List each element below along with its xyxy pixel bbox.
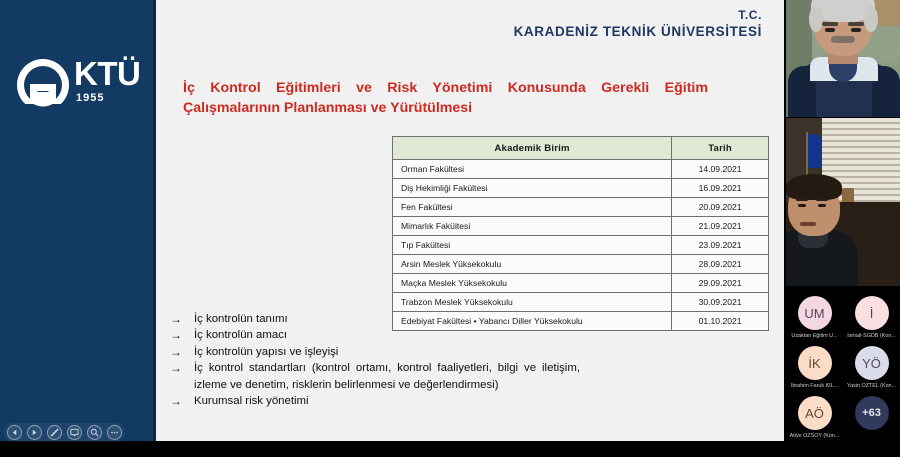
slide-title-line-1: İç Kontrol Eğitimleri ve Risk Yönetimi K… <box>183 78 708 98</box>
avatar-initials: UM <box>798 296 832 330</box>
cell-unit: Arsin Meslek Yüksekokulu <box>393 255 672 274</box>
university-header: T.C. KARADENİZ TEKNİK ÜNİVERSİTESİ <box>514 8 762 41</box>
cell-date: 21.09.2021 <box>672 217 769 236</box>
cell-date: 30.09.2021 <box>672 293 769 312</box>
slide-sidebar-edge <box>153 0 156 441</box>
header-line-university: KARADENİZ TEKNİK ÜNİVERSİTESİ <box>514 23 762 41</box>
previous-slide-button[interactable] <box>7 425 22 440</box>
video-person-brow-right <box>848 22 864 26</box>
bullet-text: İç kontrolün amacı <box>194 329 287 341</box>
flag <box>808 134 821 168</box>
participant-avatar[interactable]: UMUzaktan Eğitim U... <box>786 296 843 339</box>
video-person-brow-right <box>816 198 828 201</box>
arrow-marker-icon: → <box>170 393 182 409</box>
presentation-icon <box>70 428 79 437</box>
video-person-brow-left <box>822 22 838 26</box>
participant-name: Yasin ÖZTEL (Kon... <box>843 383 900 389</box>
cell-date: 01.10.2021 <box>672 312 769 331</box>
participant-name: Atiye ÖZSOY (Kon... <box>786 433 843 439</box>
bullet-text: İç kontrol standartları (kontrol ortamı,… <box>194 362 580 390</box>
participant-avatar-grid: UMUzaktan Eğitim U...İİsmail-SGDB (Kon..… <box>786 290 900 457</box>
present-view-button[interactable] <box>67 425 82 440</box>
ktu-logo-mark-icon <box>16 58 70 112</box>
participant-video-2[interactable] <box>786 118 900 286</box>
participant-avatar[interactable]: İKİbrahim Faruk KIL... <box>786 346 843 389</box>
bullet-item: →İç kontrol standartları (kontrol ortamı… <box>170 360 580 393</box>
avatar-initials: YÖ <box>855 346 889 380</box>
cell-unit: Maçka Meslek Yüksekokulu <box>393 274 672 293</box>
magnifier-icon <box>90 428 99 437</box>
video-person-eye-left <box>825 28 835 32</box>
cell-date: 28.09.2021 <box>672 255 769 274</box>
table-row: Fen Fakültesi20.09.2021 <box>393 198 769 217</box>
triangle-right-icon <box>31 429 38 436</box>
video-person-brow-left <box>796 198 808 201</box>
cell-date: 14.09.2021 <box>672 160 769 179</box>
cell-unit: Fen Fakültesi <box>393 198 672 217</box>
participant-name: İsmail-SGDB (Kon... <box>843 333 900 339</box>
presenter-toolbar[interactable] <box>4 423 125 442</box>
slide-canvas[interactable]: KTÜ 1955 T.C. KARADENİZ TEKNİK ÜNİVERSİT… <box>0 0 784 441</box>
table-body: Orman Fakültesi14.09.2021Diş Hekimliği F… <box>393 160 769 331</box>
video-person-eye-right <box>851 28 861 32</box>
cell-unit: Trabzon Meslek Yüksekokulu <box>393 293 672 312</box>
cell-unit: Mimarlık Fakültesi <box>393 217 672 236</box>
annotate-pen-button[interactable] <box>47 425 62 440</box>
arrow-marker-icon: → <box>170 360 182 376</box>
participant-rail: UMUzaktan Eğitim U...İİsmail-SGDB (Kon..… <box>786 0 900 457</box>
bullet-item: →İç kontrolün tanımı <box>170 311 580 327</box>
video-person-eye-right <box>818 204 826 207</box>
participant-avatar[interactable]: +63 <box>843 396 900 433</box>
table-row: Trabzon Meslek Yüksekokulu30.09.2021 <box>393 293 769 312</box>
ktu-logo: KTÜ 1955 <box>12 56 152 114</box>
avatar-initials: İ <box>855 296 889 330</box>
cell-date: 23.09.2021 <box>672 236 769 255</box>
column-header-unit: Akademik Birim <box>393 137 672 160</box>
more-participants-badge: +63 <box>855 396 889 430</box>
bullet-text: Kurumsal risk yönetimi <box>194 395 309 407</box>
bullet-item: →İç kontrolün amacı <box>170 327 580 343</box>
slide-title-line-2: Çalışmalarının Planlanması ve Yürütülmes… <box>183 98 708 118</box>
bullet-list: →İç kontrolün tanımı→İç kontrolün amacı→… <box>170 311 580 409</box>
bullet-item: →İç kontrolün yapısı ve işleyişi <box>170 344 580 360</box>
video-person-eye-left <box>798 204 806 207</box>
participant-avatar[interactable]: AÖAtiye ÖZSOY (Kon... <box>786 396 843 439</box>
zoom-button[interactable] <box>87 425 102 440</box>
table-row: Arsin Meslek Yüksekokulu28.09.2021 <box>393 255 769 274</box>
participant-avatar[interactable]: YÖYasin ÖZTEL (Kon... <box>843 346 900 389</box>
triangle-left-icon <box>11 429 18 436</box>
slide-title: İç Kontrol Eğitimleri ve Risk Yönetimi K… <box>183 78 708 118</box>
participant-name: Uzaktan Eğitim U... <box>786 333 843 339</box>
table-row: Maçka Meslek Yüksekokulu29.09.2021 <box>393 274 769 293</box>
table-row: Orman Fakültesi14.09.2021 <box>393 160 769 179</box>
table-header-row: Akademik Birim Tarih <box>393 137 769 160</box>
ellipsis-icon <box>110 428 119 437</box>
table-row: Tıp Fakültesi23.09.2021 <box>393 236 769 255</box>
bullet-item: →Kurumsal risk yönetimi <box>170 393 580 409</box>
header-line-tc: T.C. <box>514 8 762 23</box>
cell-unit: Tıp Fakültesi <box>393 236 672 255</box>
arrow-marker-icon: → <box>170 327 182 343</box>
cell-unit: Diş Hekimliği Fakültesi <box>393 179 672 198</box>
participant-video-1[interactable] <box>786 0 900 117</box>
pen-icon <box>50 428 59 437</box>
bullet-text: İç kontrolün yapısı ve işleyişi <box>194 346 338 358</box>
video-person-moustache <box>831 36 855 43</box>
video-person-mouth <box>800 222 816 226</box>
next-slide-button[interactable] <box>27 425 42 440</box>
participant-name: İbrahim Faruk KIL... <box>786 383 843 389</box>
cell-date: 29.09.2021 <box>672 274 769 293</box>
participant-avatar[interactable]: İİsmail-SGDB (Kon... <box>843 296 900 339</box>
table-row: Mimarlık Fakültesi21.09.2021 <box>393 217 769 236</box>
arrow-marker-icon: → <box>170 344 182 360</box>
arrow-marker-icon: → <box>170 311 182 327</box>
ktu-logo-text: KTÜ <box>74 55 140 93</box>
presentation-stage: KTÜ 1955 T.C. KARADENİZ TEKNİK ÜNİVERSİT… <box>0 0 786 457</box>
cell-date: 16.09.2021 <box>672 179 769 198</box>
cell-date: 20.09.2021 <box>672 198 769 217</box>
table-row: Diş Hekimliği Fakültesi16.09.2021 <box>393 179 769 198</box>
avatar-initials: İK <box>798 346 832 380</box>
avatar-initials: AÖ <box>798 396 832 430</box>
meeting-screen-share-window: KTÜ 1955 T.C. KARADENİZ TEKNİK ÜNİVERSİT… <box>0 0 900 457</box>
training-schedule-table: Akademik Birim Tarih Orman Fakültesi14.0… <box>392 136 769 331</box>
bullet-text: İç kontrolün tanımı <box>194 313 288 325</box>
column-header-date: Tarih <box>672 137 769 160</box>
more-options-button[interactable] <box>107 425 122 440</box>
table-head: Akademik Birim Tarih <box>393 137 769 160</box>
video-person-hair <box>786 174 842 200</box>
video-person-hair-right <box>864 6 878 32</box>
video-person-hair-left <box>809 6 823 32</box>
cell-unit: Orman Fakültesi <box>393 160 672 179</box>
ktu-logo-year: 1955 <box>76 92 104 104</box>
